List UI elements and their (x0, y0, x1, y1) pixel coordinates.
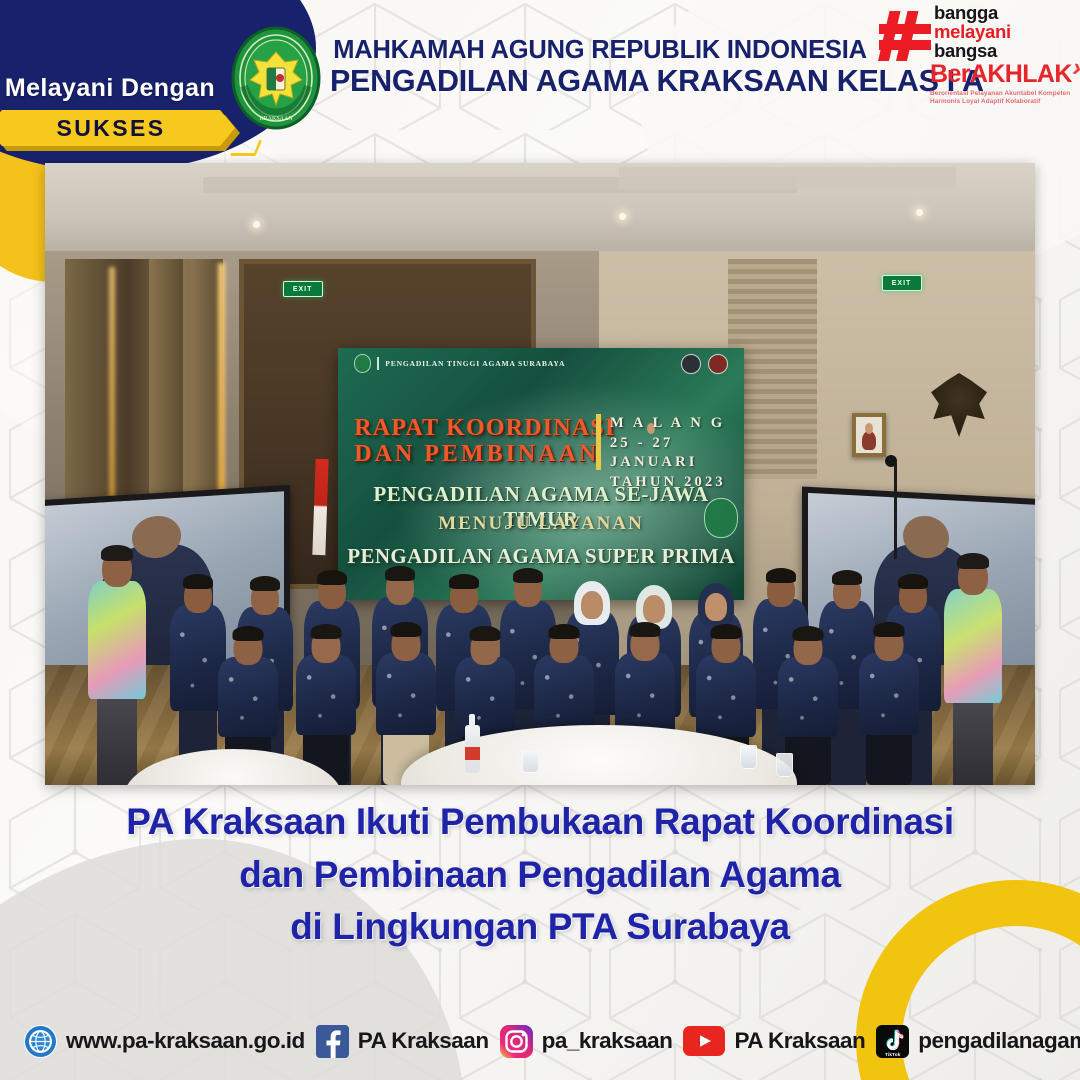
banner-vertical-rule (596, 414, 601, 470)
person-front-9 (859, 623, 919, 785)
header-line-1: MAHKAMAH AGUNG REPUBLIK INDONESIA (330, 36, 870, 65)
footer-item-tiktok[interactable]: TikTok pengadilanagamakraksaan (876, 1025, 1080, 1058)
torso (455, 657, 515, 737)
website-label: www.pa-kraksaan.go.id (66, 1028, 305, 1054)
globe-icon (24, 1025, 57, 1058)
bangga-word-2: melayani (934, 23, 1011, 42)
svg-text:KRAKSAAN: KRAKSAAN (259, 116, 293, 122)
hair (101, 545, 133, 561)
hair (250, 576, 280, 591)
banner-divider (377, 357, 379, 370)
youtube-label: PA Kraksaan (734, 1028, 865, 1054)
water-bottle (465, 725, 480, 773)
tiktok-label: pengadilanagamakraksaan (918, 1028, 1080, 1054)
tiktok-icon: TikTok (876, 1025, 909, 1058)
microphone-icon (885, 455, 897, 467)
banner-logo-1-icon (681, 354, 701, 374)
berakhlak-values: Berorientasi Pelayanan Akuntabel Kompete… (930, 90, 1078, 106)
banner-location: M A L A N G (610, 414, 744, 434)
facebook-label: PA Kraksaan (358, 1028, 489, 1054)
facebook-icon (316, 1025, 349, 1058)
berakhlak-values-line-2: Harmonis Loyal Adaptif Kolaboratif (930, 98, 1078, 106)
hair (449, 574, 479, 589)
drinking-glass-3 (776, 753, 793, 777)
head (581, 591, 603, 619)
banner-subtitle-3: PENGADILAN AGAMA SUPER PRIMA (346, 544, 736, 569)
hair (390, 622, 421, 637)
torso (296, 655, 356, 735)
hair (183, 574, 213, 589)
drinking-glass-1 (522, 749, 539, 773)
headline-line-3: di Lingkungan PTA Surabaya (40, 901, 1040, 954)
exit-sign-left: EXIT (283, 281, 323, 297)
torso (944, 589, 1002, 703)
ceiling-light-1 (253, 221, 260, 228)
hair (832, 570, 862, 585)
hair (469, 626, 500, 641)
poster-headline: PA Kraksaan Ikuti Pembukaan Rapat Koordi… (40, 796, 1040, 954)
hair (513, 568, 543, 583)
event-photo: EXIT EXIT PENGADILAN TINGGI AGAMA SURABA… (45, 163, 1035, 785)
hair (317, 570, 347, 585)
photo-scene: EXIT EXIT PENGADILAN TINGGI AGAMA SURABA… (45, 163, 1035, 785)
hair (630, 622, 661, 637)
hair (898, 574, 928, 589)
torso (859, 653, 919, 735)
berakhlak-wordmark: BerAKHLAK › (930, 62, 1078, 87)
banner-court-emblem-icon (704, 498, 738, 538)
pengadilan-agama-kraksaan-seal-icon: KRAKSAAN (230, 26, 322, 130)
youtube-icon (683, 1026, 725, 1056)
drinking-glass-2 (740, 745, 757, 769)
banner-seal-icon (354, 354, 371, 373)
torso (218, 657, 278, 737)
hashtag-icon (878, 9, 932, 63)
headline-line-1: PA Kraksaan Ikuti Pembukaan Rapat Koordi… (40, 796, 1040, 849)
banner-logo-2-icon (708, 354, 728, 374)
exit-sign-right: EXIT (882, 275, 922, 291)
bangga-wordmark: bangga melayani bangsa (934, 4, 1011, 61)
hair (766, 568, 796, 583)
torso (696, 655, 756, 737)
poster-header: KRAKSAAN MAHKAMAH AGUNG REPUBLIK INDONES… (0, 0, 1080, 150)
torso (615, 653, 675, 735)
legs (953, 693, 993, 785)
berakhlak-values-line-1: Berorientasi Pelayanan Akuntabel Kompete… (930, 90, 1078, 98)
head (705, 593, 727, 621)
social-media-footer: www.pa-kraksaan.go.id PA Kraksaan (0, 1002, 1080, 1080)
bangga-melayani-bangsa-logo: bangga melayani bangsa (878, 6, 1058, 68)
header-title-block: MAHKAMAH AGUNG REPUBLIK INDONESIA PENGAD… (330, 36, 870, 99)
instagram-label: pa_kraksaan (542, 1028, 673, 1054)
head (643, 595, 665, 623)
banner-subtitle-2: MENUJU LAYANAN (354, 513, 727, 535)
banner-event-details: M A L A N G 25 - 27 JANUARI TAHUN 2023 (610, 414, 744, 492)
hair (711, 624, 742, 639)
torso (778, 657, 838, 737)
bangga-word-3: bangsa (934, 42, 1011, 61)
banner-title-line-2: DAN PEMBINAAN (354, 442, 615, 468)
event-backdrop-banner: PENGADILAN TINGGI AGAMA SURABAYA RAPAT K… (338, 348, 744, 600)
hair (233, 626, 264, 641)
torso (534, 655, 594, 735)
legs (97, 689, 137, 785)
banner-organization: PENGADILAN TINGGI AGAMA SURABAYA (385, 359, 565, 368)
banner-title: RAPAT KOORDINASI DAN PEMBINAAN (354, 416, 615, 468)
person-batik-guest-right (944, 529, 1002, 785)
torso (88, 581, 146, 699)
framed-portrait-right (852, 413, 886, 457)
header-line-2: PENGADILAN AGAMA KRAKSAAN KELAS I A (330, 65, 870, 99)
banner-partner-logos (681, 354, 728, 374)
hair (311, 624, 342, 639)
berakhlak-logo: BerAKHLAK › Berorientasi Pelayanan Akunt… (930, 62, 1078, 106)
hair (792, 626, 823, 641)
footer-item-facebook[interactable]: PA Kraksaan (316, 1025, 489, 1058)
footer-item-website[interactable]: www.pa-kraksaan.go.id (24, 1025, 305, 1058)
berakhlak-prefix: Ber (930, 60, 970, 88)
poster-canvas: Melayani Dengan SUKSES KRAKSAAN MAHKAMAH… (0, 0, 1080, 1080)
banner-title-line-1: RAPAT KOORDINASI (354, 416, 615, 442)
footer-item-instagram[interactable]: pa_kraksaan (500, 1025, 673, 1058)
banner-dates: 25 - 27 JANUARI (610, 434, 744, 473)
person-batik-host (87, 517, 147, 785)
instagram-icon (500, 1025, 533, 1058)
banner-org-row: PENGADILAN TINGGI AGAMA SURABAYA (354, 354, 565, 373)
ceiling-beam-2 (619, 167, 956, 189)
berakhlak-suffix: AKHLAK (970, 60, 1072, 88)
hair (549, 624, 580, 639)
headline-line-2: dan Pembinaan Pengadilan Agama (40, 849, 1040, 902)
tiktok-caption: TikTok (876, 1052, 909, 1057)
hair (873, 622, 904, 637)
footer-item-youtube[interactable]: PA Kraksaan (683, 1026, 865, 1056)
torso (376, 653, 436, 735)
hair (957, 553, 989, 569)
